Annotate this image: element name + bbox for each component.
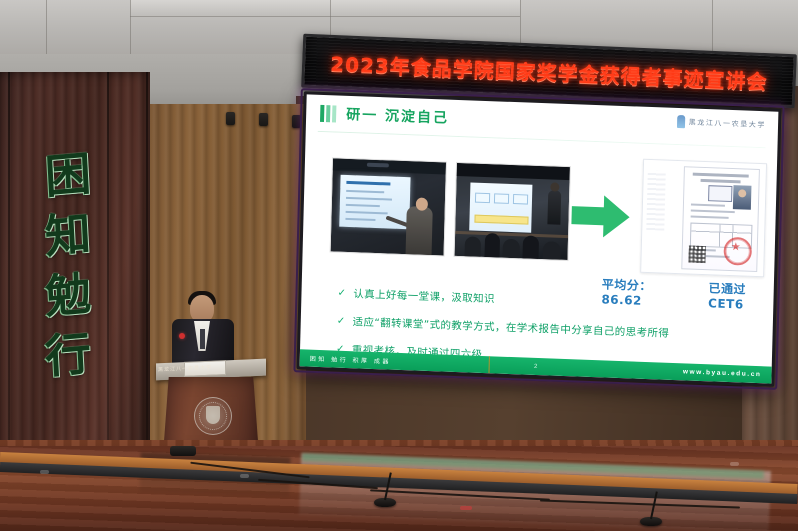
floor-mark [730, 462, 739, 466]
speaker-tie [200, 329, 205, 349]
wall-calligraphy-char: 知 [27, 209, 109, 262]
floor-microphone [374, 498, 396, 507]
classroom-photo-audience [454, 162, 571, 261]
list-item: ✓ 适应“翻转课堂”式的教学方式，在学术报告中分享自己的思考所得 [337, 314, 751, 344]
led-banner-text: 2023年食品学院国家奖学金获得者事迹宣讲会 [330, 47, 769, 94]
wall-speaker-icon [259, 113, 268, 126]
check-icon: ✓ [337, 288, 346, 299]
footer-motto: 困知 勉行 积厚 成器 [310, 354, 391, 366]
mic-stand-base [170, 446, 196, 456]
floor-tape-mark [460, 506, 472, 510]
wall-speaker-icon [292, 115, 301, 128]
slide-content: 研一 沉淀自己 黑龙江八一农垦大学 [300, 94, 779, 383]
footer-url: www.byau.edu.cn [683, 368, 762, 378]
list-item-text: 认真上好每一堂课，汲取知识 [353, 286, 495, 306]
floor-mark [240, 474, 249, 478]
projection-screen: 研一 沉淀自己 黑龙江八一农垦大学 [297, 91, 782, 386]
slide-title: 研一 沉淀自己 [346, 104, 449, 128]
speaker-lapel-pin [179, 333, 185, 339]
wall-calligraphy-char: 行 [27, 329, 109, 382]
wall-speaker-icon [226, 112, 235, 125]
wall-calligraphy-char: 勉 [27, 269, 109, 322]
university-emblem-icon [194, 397, 232, 435]
logo-mark-icon [677, 115, 685, 128]
classroom-photo-lecture [330, 157, 447, 256]
floor-microphone [640, 517, 662, 526]
logo-name: 黑龙江八一农垦大学 [689, 117, 767, 130]
slide-page-number: 2 [534, 363, 537, 369]
footer-tick [488, 356, 489, 373]
presentation-hall-photo: 困 知 勉 行 2023年食品学院国家奖学金获得者事迹宣讲会 研一 沉淀自己 黑… [0, 0, 798, 531]
list-item-text: 适应“翻转课堂”式的教学方式，在学术报告中分享自己的思考所得 [352, 314, 669, 341]
wall-calligraphy-char: 困 [27, 149, 109, 202]
check-icon: ✓ [337, 316, 346, 327]
green-arrow-icon [571, 194, 630, 238]
floor-mark [40, 470, 49, 474]
title-accent-bars-icon [320, 104, 336, 122]
cet-certificate-image [640, 159, 767, 278]
podium-and-speaker: 黑龙江八一农垦大学 [150, 285, 270, 460]
photo-row [330, 157, 571, 261]
